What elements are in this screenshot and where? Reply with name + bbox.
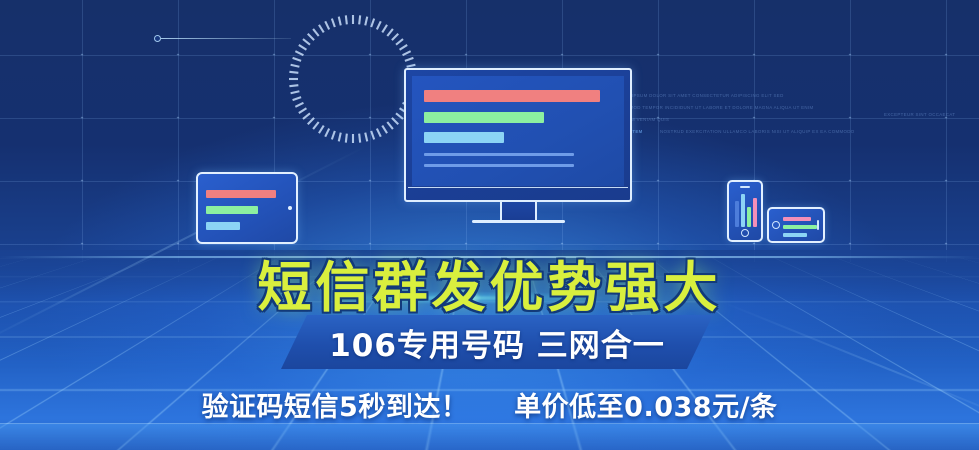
phone-landscape-home-button-icon bbox=[772, 221, 780, 229]
floor-bottom-band bbox=[0, 424, 979, 450]
bar-blue bbox=[206, 222, 240, 230]
tablet-screen bbox=[206, 180, 284, 236]
phone-portrait-illustration bbox=[727, 180, 763, 242]
phone-landscape-illustration bbox=[767, 207, 825, 243]
line-1 bbox=[424, 153, 574, 156]
bar-green bbox=[424, 112, 544, 123]
phone-landscape-speaker-icon bbox=[817, 220, 819, 230]
phone-speaker-icon bbox=[740, 186, 750, 188]
bar-blue bbox=[424, 132, 504, 143]
microtext-line-0: LOREM IPSUM DOLOR SIT AMET CONSECTETUR A… bbox=[613, 93, 784, 98]
desktop-monitor-illustration bbox=[404, 68, 632, 228]
hbar-blue bbox=[783, 233, 807, 237]
vbar-blue bbox=[735, 201, 739, 227]
subline-left-text: 验证码短信5秒到达！ bbox=[202, 392, 469, 423]
hbar-green bbox=[783, 225, 817, 229]
phone-landscape-frame bbox=[767, 207, 825, 243]
phone-portrait-frame bbox=[727, 180, 763, 242]
vbar-lightblue bbox=[741, 194, 745, 227]
monitor-bezel-line bbox=[408, 187, 628, 189]
phone-home-button-icon bbox=[741, 229, 749, 237]
tablet-illustration bbox=[196, 172, 298, 244]
microtext-line-5: EXCEPTEUR SINT OCCAECAT bbox=[884, 112, 955, 117]
line-2 bbox=[424, 164, 574, 167]
subline-right-text: 单价低至0.038元/条 bbox=[514, 392, 777, 423]
node-connector-line bbox=[161, 38, 291, 39]
microtext-line-3: NOSTRUD EXERCITATION ULLAMCO LABORIS NIS… bbox=[660, 129, 855, 134]
sms-marketing-banner: LOREM IPSUM DOLOR SIT AMET CONSECTETUR A… bbox=[0, 0, 979, 450]
bar-red bbox=[424, 90, 600, 102]
headline-title: 短信群发优势强大 bbox=[0, 243, 979, 322]
vbar-green bbox=[747, 207, 751, 227]
ribbon-label: 106专用号码 三网合一 bbox=[281, 315, 713, 369]
tablet-frame bbox=[196, 172, 298, 244]
monitor-frame bbox=[404, 68, 632, 202]
tablet-home-button-icon bbox=[288, 206, 292, 210]
monitor-stand-neck bbox=[500, 202, 537, 222]
hbar-pink bbox=[783, 217, 811, 221]
monitor-stand-base bbox=[472, 220, 565, 223]
vbar-pink bbox=[753, 198, 757, 227]
monitor-screen bbox=[412, 76, 624, 186]
bar-red bbox=[206, 190, 276, 198]
node-dot-icon bbox=[154, 35, 161, 42]
subline-row: 验证码短信5秒到达！ 单价低至0.038元/条 bbox=[0, 385, 979, 424]
bar-green bbox=[206, 206, 258, 214]
microtext-line-1: DO EIUSMOD TEMPOR INCIDIDUNT UT LABORE E… bbox=[609, 105, 814, 110]
dashed-tick-circle-icon bbox=[286, 12, 420, 146]
